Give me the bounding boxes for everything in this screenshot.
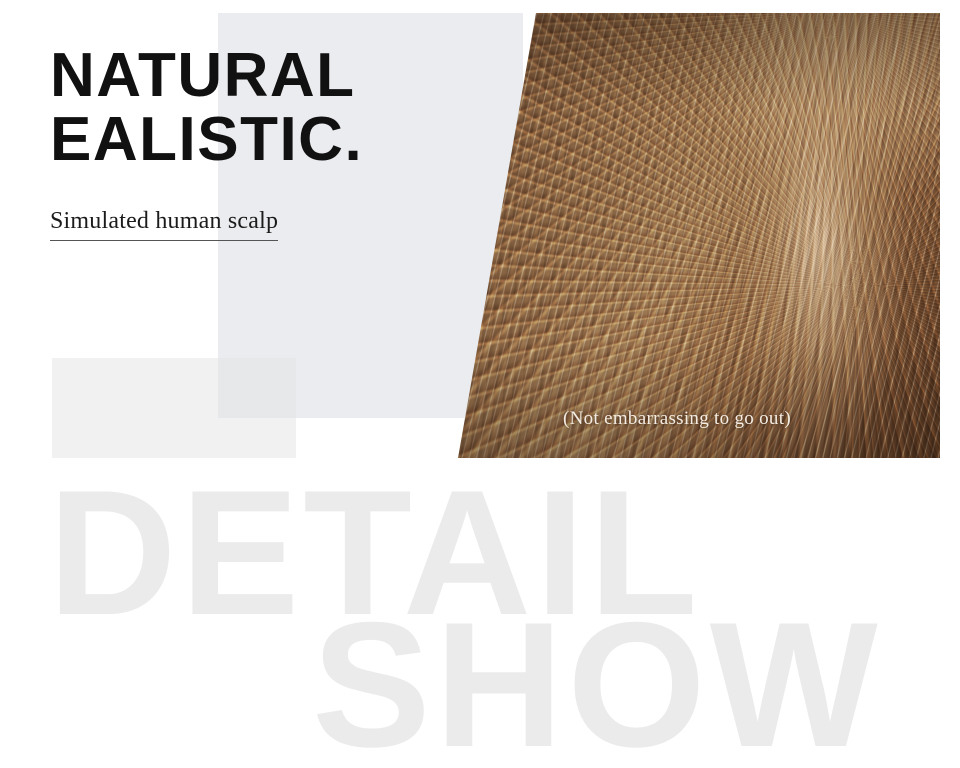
watermark: DETAIL SHOW [0, 470, 960, 768]
photo-caption: (Not embarrassing to go out) [440, 408, 914, 430]
page-title-line-1: NATURAL [50, 44, 363, 108]
watermark-line-show: SHOW [312, 610, 882, 760]
page-title: NATURAL EALISTIC. [50, 44, 363, 172]
page-subtitle: Simulated human scalp [50, 208, 278, 241]
watermark-line-detail: DETAIL [48, 478, 702, 628]
background-panel-accent [218, 358, 296, 418]
detail-show-banner: (Not embarrassing to go out) NATURAL EAL… [0, 0, 960, 768]
page-title-line-2: EALISTIC. [50, 108, 363, 172]
